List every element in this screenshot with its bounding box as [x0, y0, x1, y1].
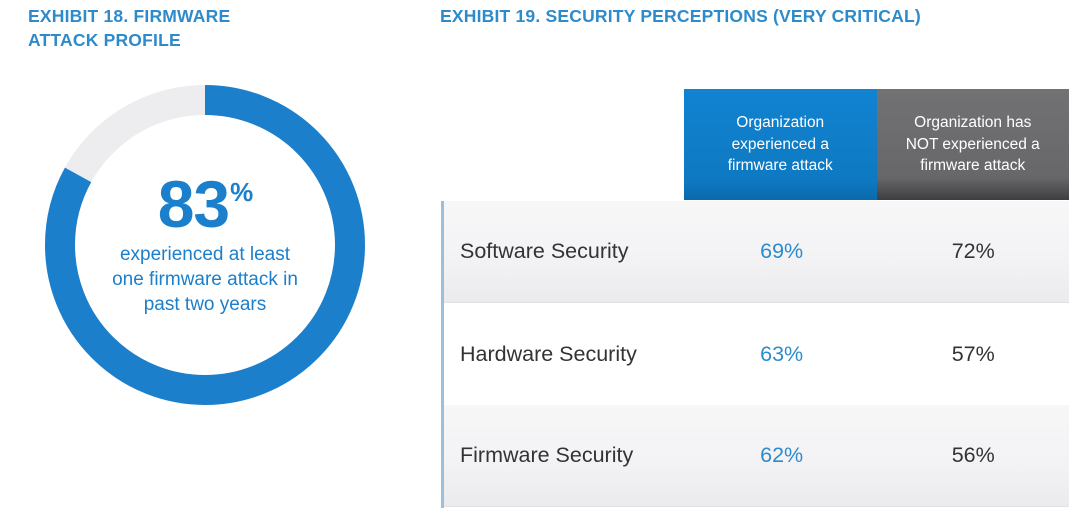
column-header-not-experienced: Organization has NOT experienced a firmw…	[877, 89, 1070, 200]
donut-percent-sign: %	[230, 179, 252, 205]
exhibit-18-title: EXHIBIT 18. FIRMWARE ATTACK PROFILE	[28, 5, 358, 52]
exhibit-19-title: EXHIBIT 19. SECURITY PERCEPTIONS (VERY C…	[440, 5, 1060, 29]
column-header-experienced: Organization experienced a firmware atta…	[684, 89, 877, 200]
table-row: Hardware Security 63% 57%	[444, 303, 1069, 405]
donut-value-number: 83	[158, 173, 229, 236]
firmware-attack-donut-chart: 83% experienced at least one firmware at…	[45, 85, 365, 405]
donut-value: 83%	[158, 173, 253, 236]
table-row: Software Security 69% 72%	[444, 201, 1069, 303]
donut-caption: experienced at least one firmware attack…	[112, 242, 298, 317]
cell-firmware-security-not-experienced: 56%	[877, 443, 1069, 468]
cell-hardware-security-not-experienced: 57%	[877, 342, 1069, 367]
donut-center-label: 83% experienced at least one firmware at…	[45, 85, 365, 405]
security-perceptions-table: Organization experienced a firmware atta…	[441, 89, 1069, 509]
table-body: Software Security 69% 72% Hardware Secur…	[441, 201, 1069, 508]
cell-software-security-experienced: 69%	[686, 239, 878, 264]
table-row: Firmware Security 62% 56%	[444, 405, 1069, 507]
cell-software-security-not-experienced: 72%	[877, 239, 1069, 264]
slide-canvas: EXHIBIT 18. FIRMWARE ATTACK PROFILE 83% …	[0, 0, 1080, 521]
row-label-hardware-security: Hardware Security	[444, 342, 686, 367]
cell-firmware-security-experienced: 62%	[686, 443, 878, 468]
row-label-software-security: Software Security	[444, 239, 686, 264]
cell-hardware-security-experienced: 63%	[686, 342, 878, 367]
row-label-firmware-security: Firmware Security	[444, 443, 686, 468]
table-column-headers: Organization experienced a firmware atta…	[684, 89, 1069, 200]
